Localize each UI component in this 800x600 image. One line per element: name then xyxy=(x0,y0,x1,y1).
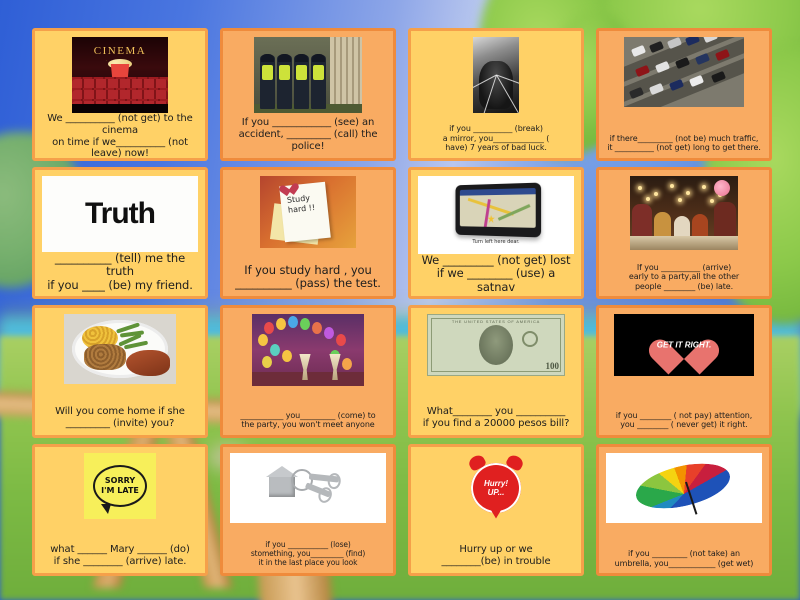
caption-line: Hurry up or we xyxy=(418,544,574,556)
flashcard-6-media: Study hard !! xyxy=(230,176,386,248)
caption-line: if you __________ (break) xyxy=(418,124,574,133)
caption-line: people ________ (be) late. xyxy=(606,282,762,291)
alarm-bell-left-icon xyxy=(467,453,487,472)
flashcard-9-caption: Will you come home if she _________ (inv… xyxy=(42,406,198,430)
flashcard-2-caption: If you ____________ (see) an accident, _… xyxy=(230,117,386,152)
flashcard-10-media xyxy=(230,314,386,386)
satnav-caption: Turn left here dear. xyxy=(472,239,519,245)
flashcard-14-media xyxy=(230,453,386,523)
ham-food xyxy=(126,350,170,376)
hurry-line-1: Hurry! xyxy=(484,479,508,488)
flashcard-4-media xyxy=(606,37,762,107)
alarm-clock-foot-icon xyxy=(490,509,502,519)
broken-mirror-image xyxy=(473,37,519,113)
satnav-gps-image: Turn left here dear. xyxy=(418,176,574,254)
caption-line: Will you come home if she xyxy=(42,406,198,418)
flashcard-8[interactable]: If you __________ (arrive) early to a pa… xyxy=(596,167,772,300)
caption-line: __________ (pass) the test. xyxy=(230,277,386,291)
cinema-title: CINEMA xyxy=(72,45,168,57)
caption-line: if you ____ (be) my friend. xyxy=(42,279,198,293)
note-handwriting: Study hard !! xyxy=(287,192,324,225)
sorry-line-1: SORRY xyxy=(105,476,135,486)
caption-line: if you ________ ( not pay) attention, xyxy=(606,411,762,420)
hurry-line-2: UP... xyxy=(488,488,505,497)
caption-line: have) 7 years of bad luck. xyxy=(418,143,574,152)
stuffing-food xyxy=(84,344,126,370)
truth-word-image: Truth xyxy=(42,176,198,252)
dinner-table xyxy=(630,236,738,250)
gps-screen xyxy=(460,188,536,228)
flashcard-11-media: THE UNITED STATES OF AMERICA 100 xyxy=(418,314,574,376)
caption-line: ___________ you_________ (come) to xyxy=(230,411,386,420)
window-blind xyxy=(330,37,362,113)
cinema-poster-image: CINEMA · · · · · xyxy=(72,37,168,113)
caption-line: it __________ (not get) long to get ther… xyxy=(606,143,762,152)
police-officers-image xyxy=(254,37,362,113)
hurry-up-alarm-clock-image: Hurry! UP... xyxy=(456,453,536,523)
umbrella-canopy-icon xyxy=(634,456,732,516)
caption-line: if you _________ (not take) an xyxy=(606,549,762,558)
flashcard-14-caption: if you ___________ (lose) stomething, yo… xyxy=(230,541,386,568)
flashcard-15-caption: Hurry up or we ________(be) in trouble xyxy=(418,544,574,568)
alarm-clock-icon: Hurry! UP... xyxy=(471,463,521,513)
flashcard-15[interactable]: Hurry! UP... Hurry up or we ________(be)… xyxy=(408,444,584,577)
flashcard-2[interactable]: If you ____________ (see) an accident, _… xyxy=(220,28,396,161)
flashcard-14[interactable]: if you ___________ (lose) stomething, yo… xyxy=(220,444,396,577)
flashcard-3-media xyxy=(418,37,574,113)
flashcard-13-caption: what ______ Mary ______ (do) if she ____… xyxy=(42,544,198,568)
flashcard-16-media xyxy=(606,453,762,523)
caption-line: _________ (invite) you? xyxy=(42,418,198,430)
caption-line: If you ____________ (see) an xyxy=(230,117,386,129)
caption-line: if we ________ (use) a satnav xyxy=(418,267,574,294)
caption-line: it in the last place you look xyxy=(230,559,386,568)
flashcard-16-caption: if you _________ (not take) an umbrella,… xyxy=(606,549,762,568)
flashcard-9[interactable]: Will you come home if she _________ (inv… xyxy=(32,305,208,438)
caption-line: We _________ (not get) lost xyxy=(418,254,574,268)
caption-line: what ______ Mary ______ (do) xyxy=(42,544,198,556)
flashcard-7-caption: We _________ (not get) lost if we ______… xyxy=(418,254,574,295)
flashcard-1[interactable]: CINEMA · · · · · We __________ (not get)… xyxy=(32,28,208,161)
flashcard-5-caption: __________ (tell) me the truth if you __… xyxy=(42,252,198,293)
caption-line: a mirror, you_____________ ( xyxy=(418,134,574,143)
bill-seal-icon xyxy=(522,331,538,347)
flashcard-3[interactable]: if you __________ (break) a mirror, you_… xyxy=(408,28,584,161)
caption-line: umbrella, you____________ (get wet) xyxy=(606,559,762,568)
flashcard-15-media: Hurry! UP... xyxy=(418,453,574,523)
flashcard-13[interactable]: SORRY I'M LATE what ______ Mary ______ (… xyxy=(32,444,208,577)
caption-line: if you find a 20000 pesos bill? xyxy=(418,418,574,430)
caption-line: the party, you won't meet anyone xyxy=(230,420,386,429)
bill-top-text: THE UNITED STATES OF AMERICA xyxy=(428,319,564,324)
flashcard-10[interactable]: ___________ you_________ (come) to the p… xyxy=(220,305,396,438)
flower-decoration xyxy=(714,180,730,196)
flashcard-1-caption: We __________ (not get) to the cinema on… xyxy=(42,113,198,160)
flashcard-12[interactable]: GET IT RIGHT. if you ________ ( not pay)… xyxy=(596,305,772,438)
flashcard-9-media xyxy=(42,314,198,384)
flashcard-8-media xyxy=(606,176,762,250)
caption-line: if there_________ (not be) much traffic, xyxy=(606,134,762,143)
franklin-portrait xyxy=(479,325,513,365)
flashcard-7[interactable]: Turn left here dear. We _________ (not g… xyxy=(408,167,584,300)
balloon-party-image xyxy=(252,314,364,386)
get-it-right-heart-image: GET IT RIGHT. xyxy=(614,314,754,376)
flashcard-5-media: Truth xyxy=(42,176,198,252)
flashcard-13-media: SORRY I'M LATE xyxy=(42,453,198,519)
flashcard-5[interactable]: Truth __________ (tell) me the truth if … xyxy=(32,167,208,300)
bill-denomination: 100 xyxy=(546,361,560,371)
study-hard-note-image: Study hard !! xyxy=(260,176,356,248)
flashcard-12-media: GET IT RIGHT. xyxy=(606,314,762,376)
hundred-dollar-bill-image: THE UNITED STATES OF AMERICA 100 xyxy=(427,314,565,376)
green-beans-food xyxy=(116,324,156,346)
flashcard-11[interactable]: THE UNITED STATES OF AMERICA 100 What___… xyxy=(408,305,584,438)
caption-line: you ________ ( never get) it right. xyxy=(606,420,762,429)
alarm-bell-right-icon xyxy=(505,453,525,472)
get-it-right-slogan: GET IT RIGHT. xyxy=(657,341,712,350)
speech-bubble-icon: SORRY I'M LATE xyxy=(93,465,147,507)
caption-line: on time if we__________ (not leave) now! xyxy=(42,137,198,161)
flashcard-6[interactable]: Study hard !! If you study hard , you __… xyxy=(220,167,396,300)
cinema-poster-footer xyxy=(72,104,168,113)
caption-line: __________ (tell) me the truth xyxy=(42,252,198,279)
sorry-im-late-sticky-image: SORRY I'M LATE xyxy=(84,453,156,519)
caption-line: What________ you __________ xyxy=(418,406,574,418)
flashcard-11-caption: What________ you __________ if you find … xyxy=(418,406,574,430)
party-floor xyxy=(252,372,364,386)
note-line-1: Study xyxy=(287,193,311,204)
caption-line: If you __________ (arrive) xyxy=(606,263,762,272)
sorry-line-2: I'M LATE xyxy=(101,486,139,496)
flashcard-7-media: Turn left here dear. xyxy=(418,176,574,254)
rainbow-umbrella-image xyxy=(606,453,762,523)
dinner-plate-image xyxy=(64,314,176,384)
caption-line: ________(be) in trouble xyxy=(418,556,574,568)
traffic-jam-image xyxy=(624,37,744,107)
silhouette-figure xyxy=(479,61,513,109)
caption-line: accident, _________ (call) the police! xyxy=(230,129,386,153)
caption-line: early to a party,all the other xyxy=(606,272,762,281)
flashcard-16[interactable]: if you _________ (not take) an umbrella,… xyxy=(596,444,772,577)
party-dinner-lights-image xyxy=(630,176,738,250)
caption-line: We __________ (not get) to the cinema xyxy=(42,113,198,137)
flashcard-8-caption: If you __________ (arrive) early to a pa… xyxy=(606,263,762,291)
caption-line: If you study hard , you xyxy=(230,264,386,278)
flashcard-4-caption: if there_________ (not be) much traffic,… xyxy=(606,134,762,153)
map-marker-icon xyxy=(487,215,495,223)
flashcard-4[interactable]: if there_________ (not be) much traffic,… xyxy=(596,28,772,161)
flashcard-1-media: CINEMA · · · · · xyxy=(42,37,198,113)
truth-word-text: Truth xyxy=(85,197,155,231)
flashcard-10-caption: ___________ you_________ (come) to the p… xyxy=(230,411,386,430)
caption-line: if she ________ (arrive) late. xyxy=(42,556,198,568)
flashcard-12-caption: if you ________ ( not pay) attention, yo… xyxy=(606,411,762,430)
flashcard-6-caption: If you study hard , you __________ (pass… xyxy=(230,264,386,291)
flashcard-2-media xyxy=(230,37,386,113)
gps-device-icon xyxy=(455,183,541,238)
flashcard-3-caption: if you __________ (break) a mirror, you_… xyxy=(418,124,574,152)
house-keys-image xyxy=(230,453,386,523)
key-icon xyxy=(309,473,339,482)
flashcard-grid: CINEMA · · · · · We __________ (not get)… xyxy=(32,28,772,576)
